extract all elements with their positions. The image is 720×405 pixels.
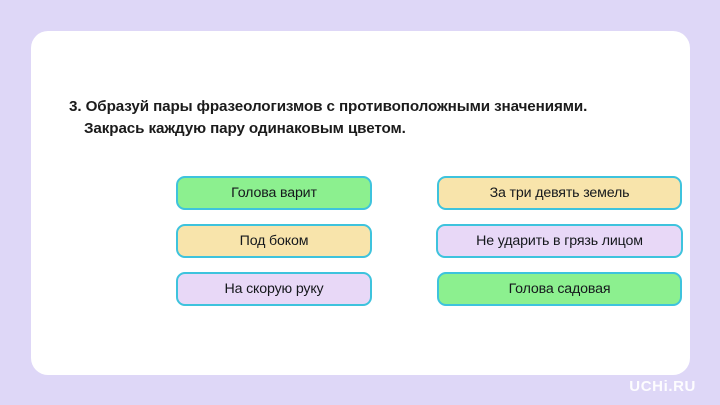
chip-golova-sadovaya[interactable]: Голова садовая	[437, 272, 682, 306]
chip-ne-udarit-v-gryaz-licom[interactable]: Не ударить в грязь лицом	[436, 224, 683, 258]
answer-chip-columns: Голова варит Под боком На скорую руку За…	[0, 176, 720, 296]
task-prompt-text-1: Образуй пары фразеологизмов с противопол…	[86, 98, 588, 115]
right-column: За три девять земель Не ударить в грязь …	[437, 176, 682, 306]
left-column: Голова варит Под боком На скорую руку	[176, 176, 372, 306]
task-prompt-line-1: 3. Образуй пары фразеологизмов с противо…	[69, 96, 669, 118]
chip-na-skoruyu-ruku[interactable]: На скорую руку	[176, 272, 372, 306]
uchi-ru-watermark: UCHi.RU	[629, 378, 696, 395]
chip-golova-varit[interactable]: Голова варит	[176, 176, 372, 210]
chip-za-tri-devyat-zemel[interactable]: За три девять земель	[437, 176, 682, 210]
task-prompt-line-2: Закрась каждую пару одинаковым цветом.	[69, 118, 669, 140]
task-prompt: 3. Образуй пары фразеологизмов с противо…	[69, 96, 669, 140]
task-number: 3.	[69, 98, 81, 115]
chip-pod-bokom[interactable]: Под боком	[176, 224, 372, 258]
